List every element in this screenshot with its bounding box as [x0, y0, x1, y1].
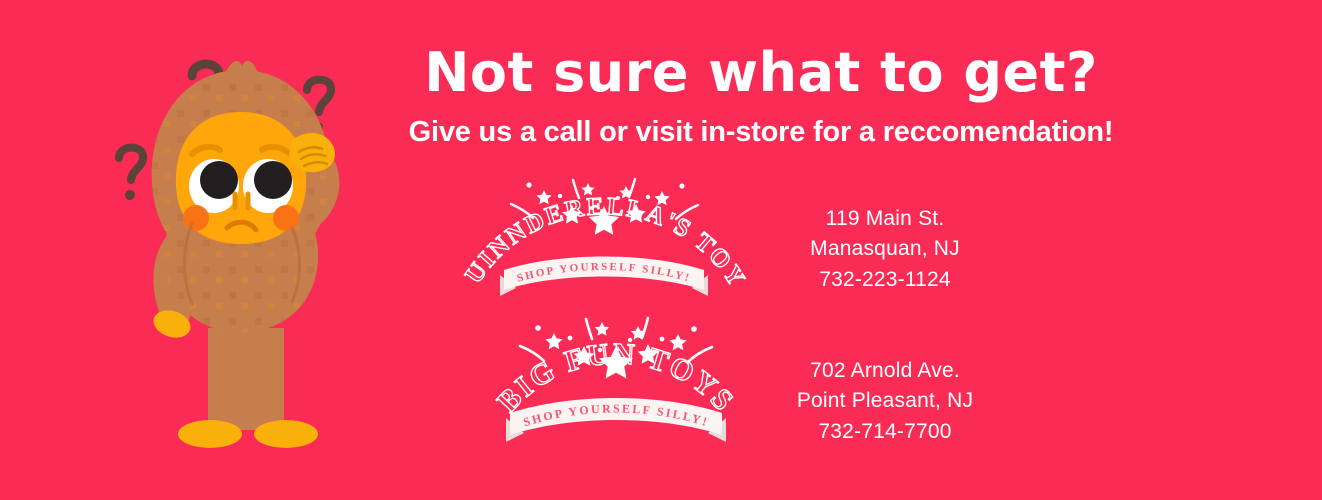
store-row: QUINNDERELLA'S TOYS SHOP YOURSELF SILLY! [470, 178, 1030, 308]
promo-banner: Not sure what to get? Give us a call or … [0, 0, 1322, 500]
question-mark-icon [119, 148, 143, 180]
store-phone[interactable]: 732-714-7700 [760, 417, 1010, 447]
store-phone[interactable]: 732-223-1124 [770, 265, 1000, 295]
page-title: Not sure what to get? [400, 44, 1122, 102]
confused-monkey-mascot [96, 28, 386, 468]
store-address: 702 Arnold Ave. Point Pleasant, NJ 732-7… [760, 356, 1010, 447]
big-fun-toys-logo: BIG FUN TOYS SHOP YOURSELF SILLY! [492, 316, 740, 442]
quinnderellas-toys-logo: QUINNDERELLA'S TOYS SHOP YOURSELF SILLY! [470, 178, 738, 296]
mascot-foot [254, 420, 318, 448]
address-line-1: 702 Arnold Ave. [760, 356, 1010, 386]
store-row: BIG FUN TOYS SHOP YOURSELF SILLY! [470, 308, 1030, 443]
page-subtitle: Give us a call or visit in-store for a r… [400, 116, 1122, 149]
mascot-foot [178, 420, 242, 448]
address-line-2: Manasquan, NJ [770, 234, 1000, 264]
address-line-1: 119 Main St. [770, 204, 1000, 234]
store-address: 119 Main St. Manasquan, NJ 732-223-1124 [770, 204, 1000, 295]
mascot-blush [183, 205, 209, 231]
headline-block: Not sure what to get? Give us a call or … [400, 44, 1122, 150]
address-line-2: Point Pleasant, NJ [760, 386, 1010, 416]
mascot-blush [273, 205, 299, 231]
store-list: QUINNDERELLA'S TOYS SHOP YOURSELF SILLY! [470, 178, 1030, 443]
